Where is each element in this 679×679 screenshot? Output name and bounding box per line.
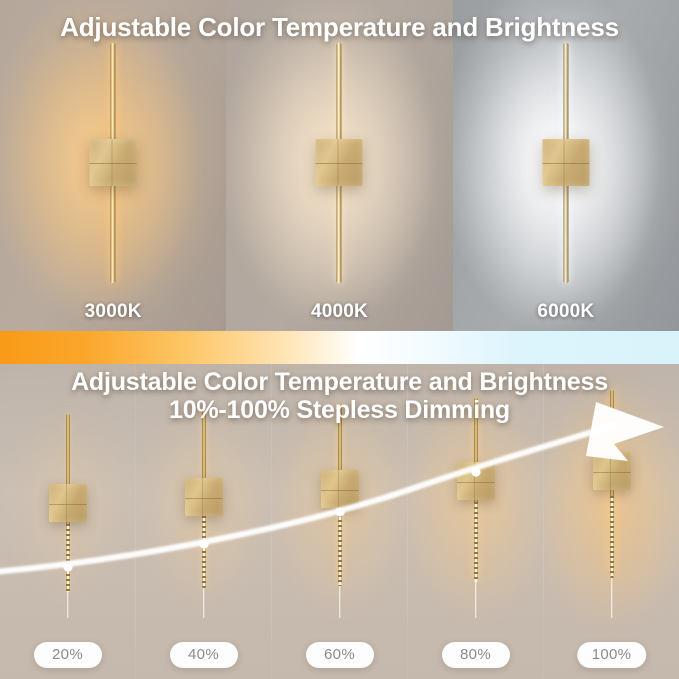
pill-leader-line xyxy=(203,588,205,618)
wall-mount-plate xyxy=(593,452,631,490)
product-feature-image: 3000K 4000K 6000K Adjust xyxy=(0,0,679,679)
wall-sconce-4000k xyxy=(311,43,367,283)
top-headline: Adjustable Color Temperature and Brightn… xyxy=(0,12,679,43)
dimming-level-pill-20[interactable]: 20% xyxy=(34,642,102,668)
bottom-headline: Adjustable Color Temperature and Brightn… xyxy=(0,368,679,424)
color-temp-label-3000k: 3000K xyxy=(0,301,226,323)
dimming-level-pill-40[interactable]: 40% xyxy=(170,642,238,668)
wall-sconce-6000k xyxy=(538,43,594,283)
color-temp-label-4000k: 4000K xyxy=(226,301,452,323)
bottom-headline-line1: Adjustable Color Temperature and Brightn… xyxy=(0,368,679,396)
wall-sconce-3000k xyxy=(85,43,141,283)
dimming-scale-ticks xyxy=(66,524,69,592)
wall-mount-plate xyxy=(316,139,363,186)
pill-leader-line xyxy=(67,592,69,618)
wall-mount-plate xyxy=(321,470,359,508)
pill-leader-line xyxy=(475,582,477,618)
dimming-scale-ticks xyxy=(610,496,613,578)
color-temperature-gradient-bar xyxy=(0,331,679,364)
pill-leader-line xyxy=(339,586,341,618)
pill-leader-line xyxy=(611,578,613,618)
wall-mount-plate xyxy=(457,462,495,500)
dimming-scale-ticks xyxy=(338,510,341,586)
dimming-scale-ticks xyxy=(202,516,205,588)
dimming-scale-ticks xyxy=(474,502,477,582)
color-temp-cell-4000k: 4000K xyxy=(226,0,452,331)
wall-mount-plate xyxy=(49,484,87,522)
dimming-panel: 20% 40% xyxy=(0,364,679,679)
bottom-headline-line2: 10%-100% Stepless Dimming xyxy=(0,396,679,424)
color-temperature-panel: 3000K 4000K 6000K Adjust xyxy=(0,0,679,331)
wall-mount-plate xyxy=(185,478,223,516)
color-temperature-cells: 3000K 4000K 6000K xyxy=(0,0,679,331)
color-temp-label-6000k: 6000K xyxy=(453,301,679,323)
dimming-level-pill-60[interactable]: 60% xyxy=(306,642,374,668)
dimming-level-pill-80[interactable]: 80% xyxy=(442,642,510,668)
color-temp-cell-6000k: 6000K xyxy=(453,0,679,331)
wall-mount-plate xyxy=(90,139,137,186)
dimming-level-pill-100[interactable]: 100% xyxy=(577,642,647,668)
wall-mount-plate xyxy=(542,139,589,186)
color-temp-cell-3000k: 3000K xyxy=(0,0,226,331)
